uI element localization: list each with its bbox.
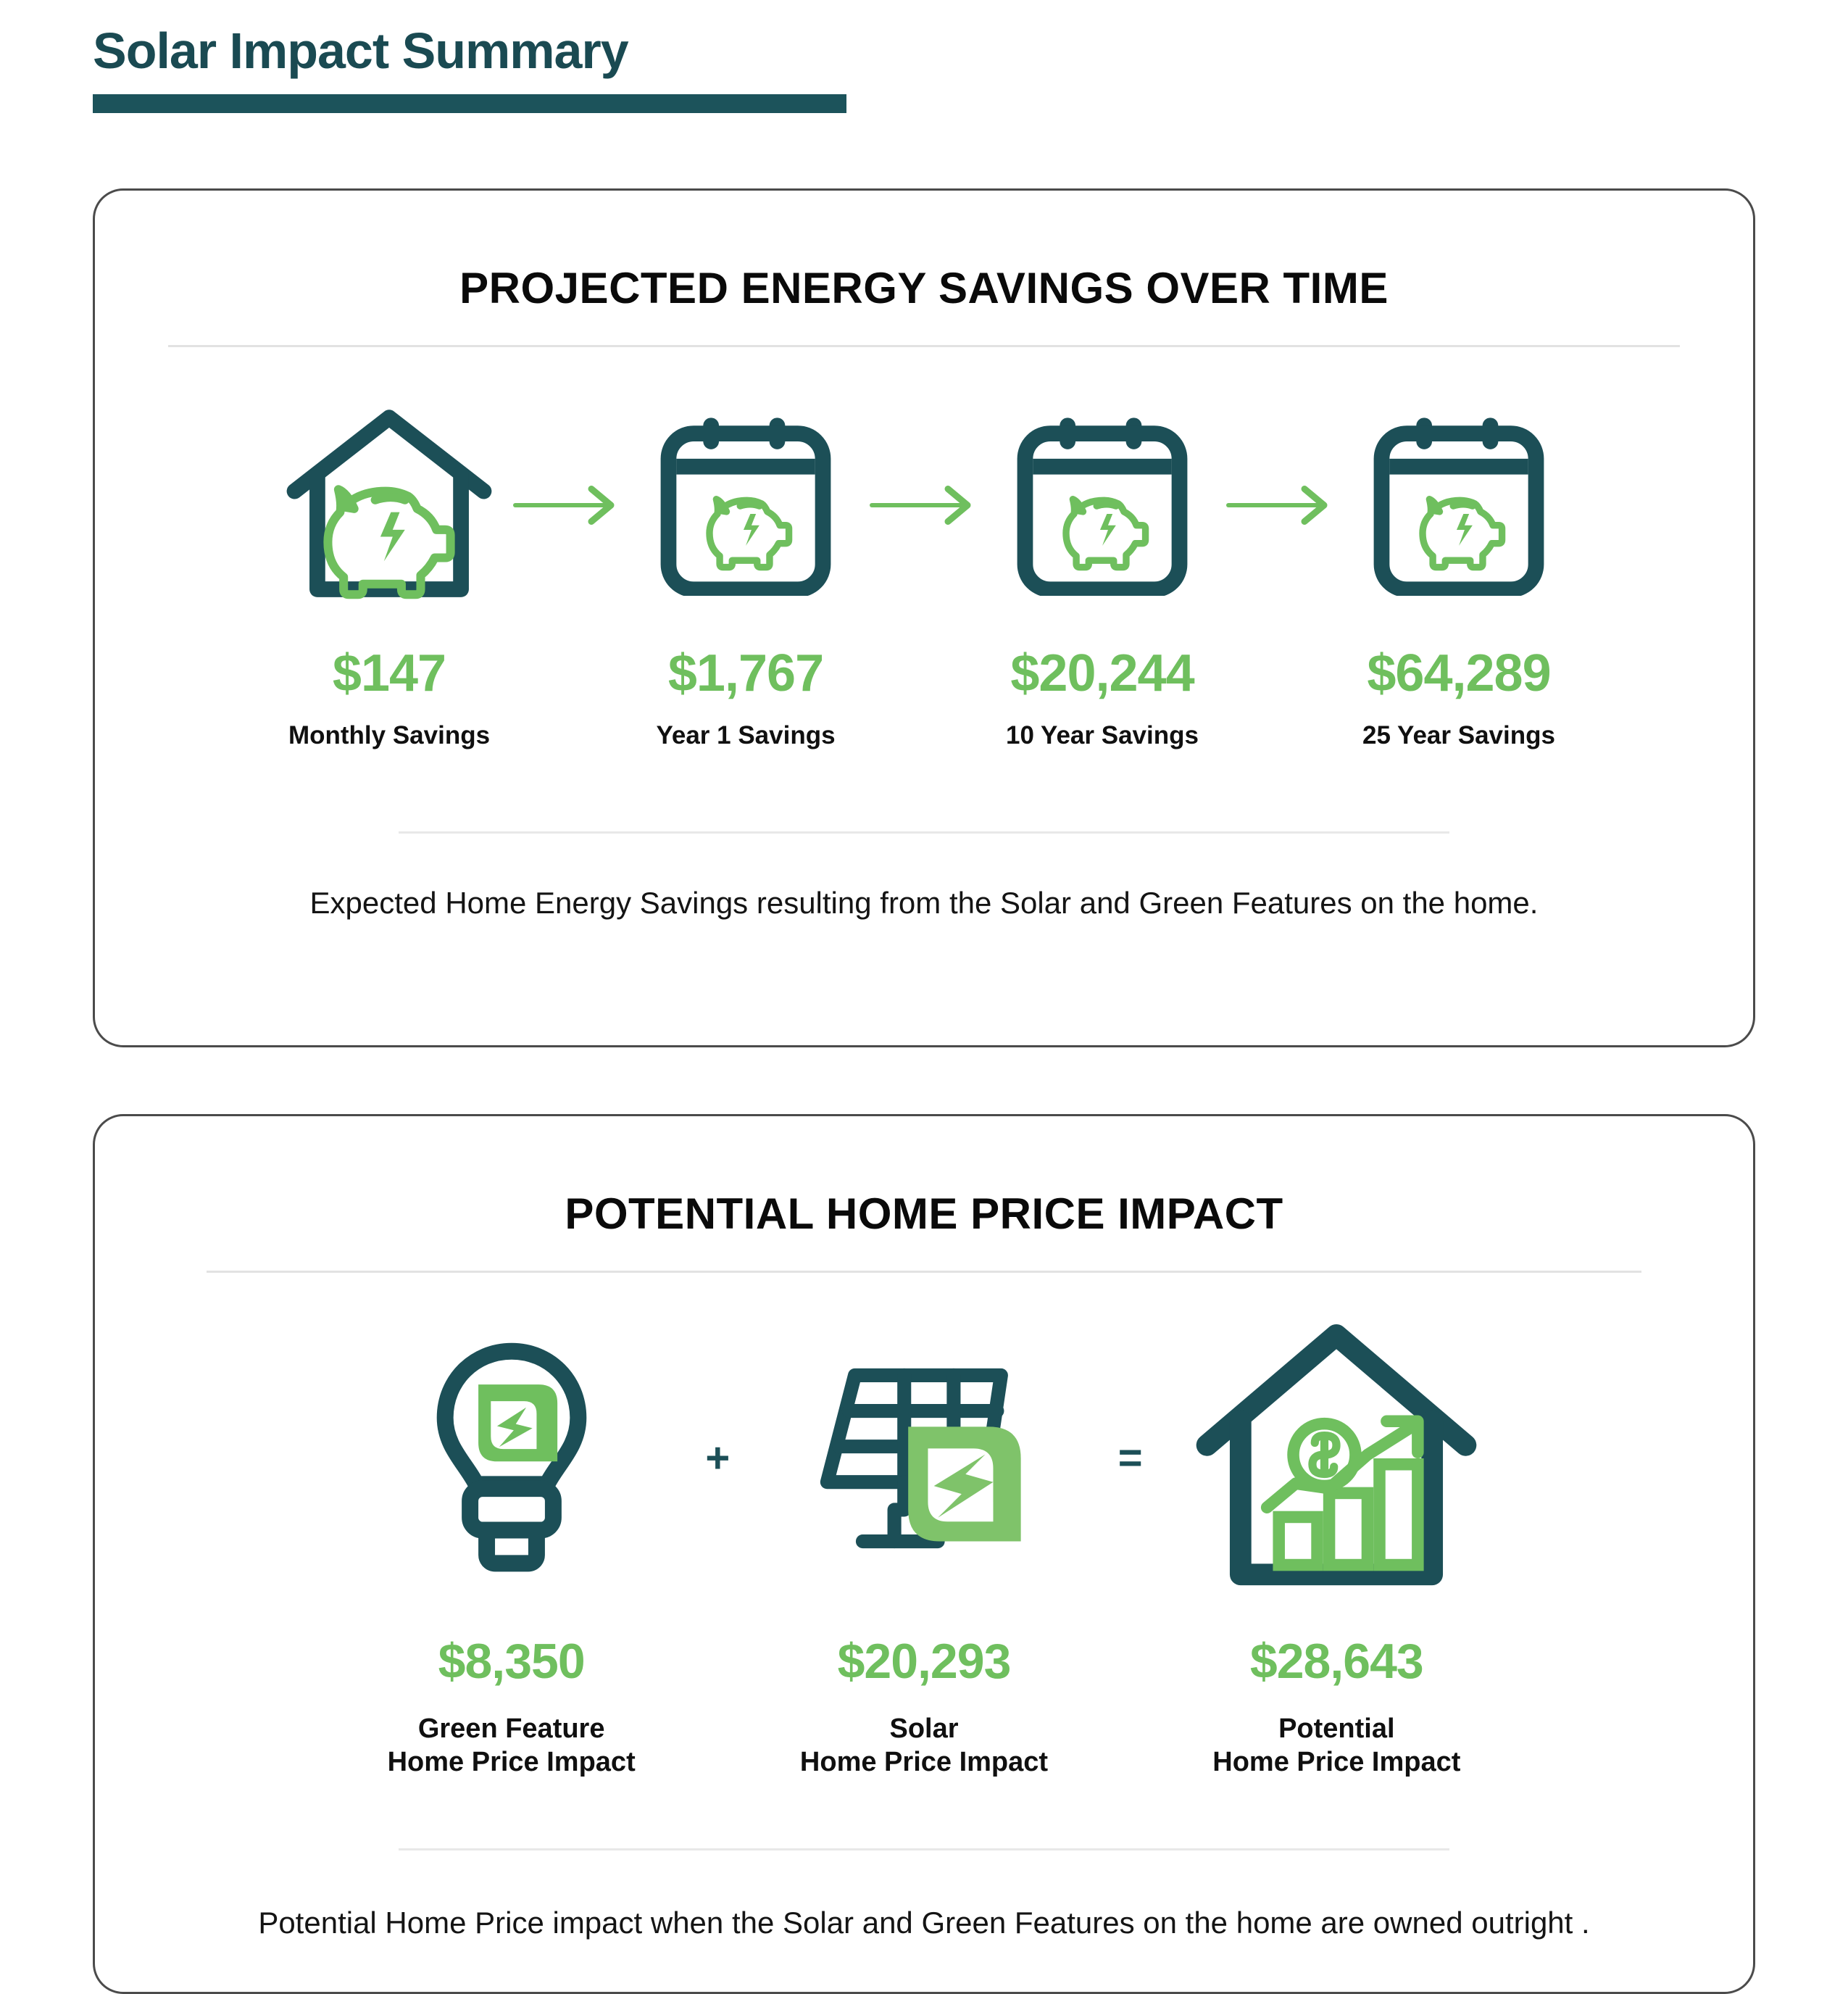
savings-icon-container: [1372, 389, 1546, 621]
savings-item: $64,289 25 Year Savings: [1346, 389, 1572, 750]
title-underline-rule: [93, 94, 846, 113]
savings-value: $20,244: [1010, 647, 1194, 699]
savings-label: 25 Year Savings: [1362, 721, 1555, 750]
arrow-right-icon: [1226, 483, 1335, 527]
arrow-cell: [1215, 389, 1346, 621]
house-growth-chart-icon: [1191, 1321, 1481, 1596]
projected-energy-savings-card: PROJECTED ENERGY SAVINGS OVER TIME $147 …: [93, 188, 1755, 1047]
savings-label: Monthly Savings: [288, 721, 490, 750]
price-footer-text: Potential Home Price impact when the Sol…: [95, 1906, 1753, 1940]
savings-value: $147: [333, 647, 446, 699]
price-item: $28,643 Potential Home Price Impact: [1181, 1313, 1492, 1779]
savings-label: 10 Year Savings: [1006, 721, 1199, 750]
arrow-cell: [502, 389, 633, 621]
price-item: $8,350 Green Feature Home Price Impact: [356, 1313, 667, 1779]
arrow-cell: [859, 389, 989, 621]
calendar-piggybank-icon: [1372, 415, 1546, 596]
price-icon-container: [428, 1313, 595, 1603]
savings-card-divider: [168, 345, 1680, 347]
lightbulb-leaf-icon: [428, 1339, 595, 1578]
price-label: Potential Home Price Impact: [1212, 1712, 1460, 1779]
price-items-row: $8,350 Green Feature Home Price Impact +: [95, 1313, 1753, 1779]
calendar-piggybank-icon: [659, 415, 833, 596]
savings-icon-container: [1015, 389, 1189, 621]
arrow-right-icon: [513, 483, 622, 527]
equals-icon: =: [1118, 1437, 1143, 1479]
savings-footer-text: Expected Home Energy Savings resulting f…: [95, 886, 1753, 921]
equals-operator-cell: =: [1080, 1313, 1181, 1603]
price-value: $28,643: [1250, 1637, 1423, 1686]
price-card-title: POTENTIAL HOME PRICE IMPACT: [95, 1116, 1753, 1239]
page-title: Solar Impact Summary: [93, 25, 1848, 78]
savings-item: $1,767 Year 1 Savings: [633, 389, 859, 750]
house-piggybank-icon: [284, 400, 494, 610]
savings-footer-divider: [399, 831, 1449, 834]
savings-label: Year 1 Savings: [656, 721, 835, 750]
price-value: $8,350: [438, 1637, 585, 1686]
potential-home-price-impact-card: POTENTIAL HOME PRICE IMPACT $8,350 Green…: [93, 1114, 1755, 1994]
savings-value: $64,289: [1367, 647, 1550, 699]
plus-icon: +: [705, 1437, 730, 1479]
price-icon-container: [815, 1313, 1033, 1603]
savings-icon-container: [659, 389, 833, 621]
savings-value: $1,767: [668, 647, 823, 699]
price-icon-container: [1191, 1313, 1481, 1603]
page-header: Solar Impact Summary: [0, 0, 1848, 113]
price-item: $20,293 Solar Home Price Impact: [768, 1313, 1079, 1779]
price-value: $20,293: [838, 1637, 1011, 1686]
plus-operator-cell: +: [667, 1313, 768, 1603]
savings-item: $147 Monthly Savings: [276, 389, 502, 750]
price-label: Solar Home Price Impact: [800, 1712, 1048, 1779]
savings-item: $20,244 10 Year Savings: [989, 389, 1215, 750]
savings-items-row: $147 Monthly Savings: [95, 389, 1753, 750]
savings-card-title: PROJECTED ENERGY SAVINGS OVER TIME: [95, 191, 1753, 313]
calendar-piggybank-icon: [1015, 415, 1189, 596]
price-label: Green Feature Home Price Impact: [388, 1712, 636, 1779]
price-footer-divider: [399, 1848, 1449, 1850]
price-card-divider: [207, 1271, 1641, 1273]
savings-icon-container: [284, 389, 494, 621]
solar-panel-leaf-icon: [815, 1357, 1033, 1560]
arrow-right-icon: [870, 483, 978, 527]
